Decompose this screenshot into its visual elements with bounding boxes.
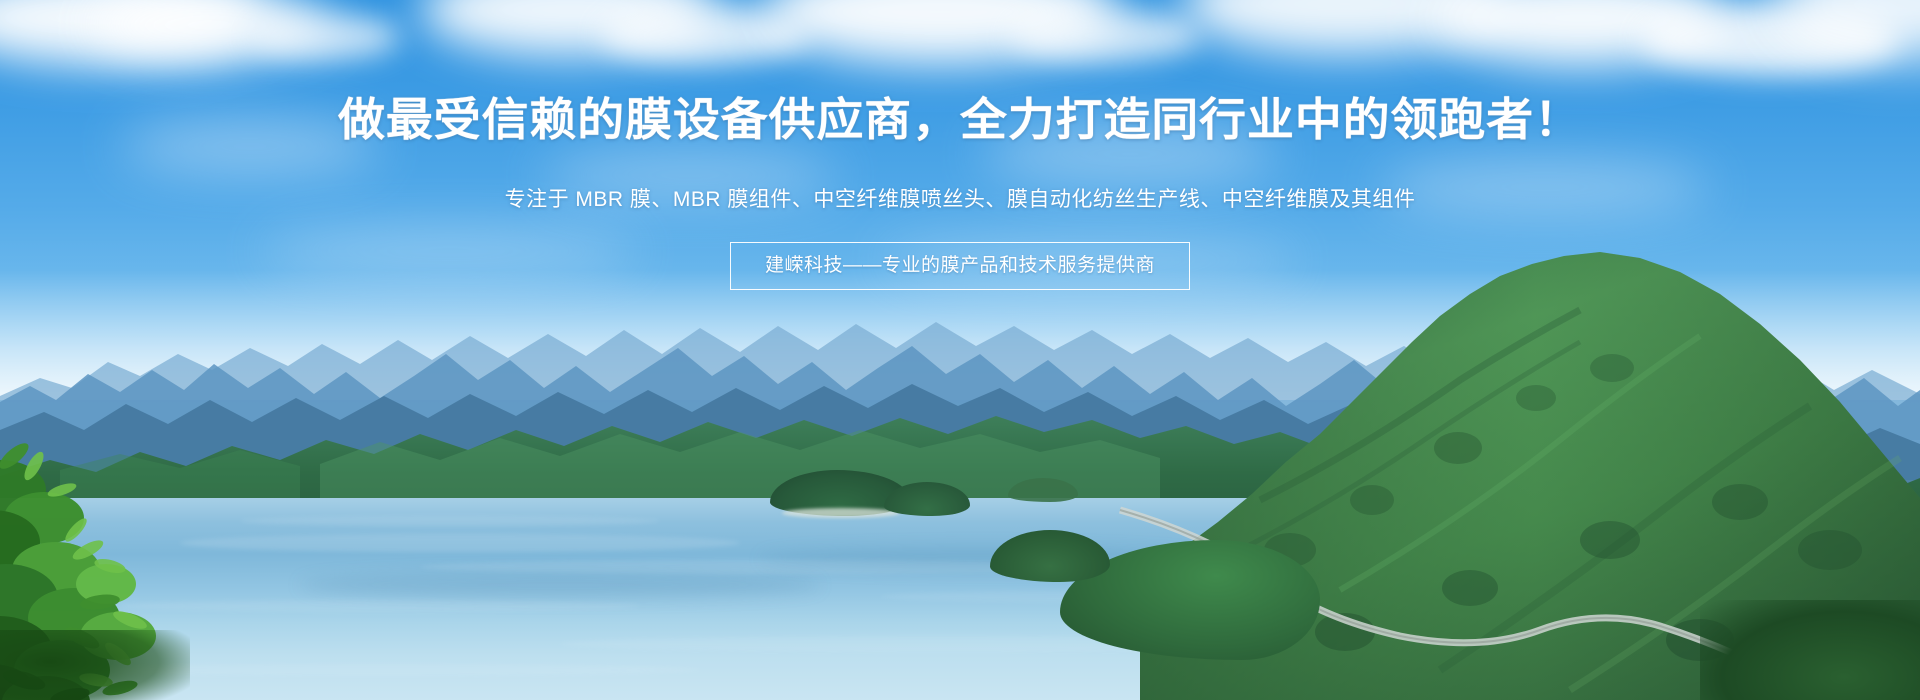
water-dark-patch: [300, 572, 820, 598]
cloud: [1380, 160, 1710, 214]
hero-banner: 做最受信赖的膜设备供应商，全力打造同行业中的领跑者！ 专注于 MBR 膜、MBR…: [0, 0, 1920, 700]
water-reflection: [240, 516, 660, 526]
lake-island-center-shore: [782, 508, 900, 518]
cloud: [980, 126, 1280, 182]
cloud: [1010, 10, 1200, 62]
tagline-box[interactable]: 建嵘科技——专业的膜产品和技术服务提供商: [730, 242, 1190, 290]
cloud: [260, 228, 640, 274]
cloud: [540, 150, 840, 200]
cloud: [120, 120, 380, 172]
foliage-right-bottom: [1700, 600, 1920, 700]
foliage-shadow: [0, 630, 190, 700]
tagline-text: 建嵘科技——专业的膜产品和技术服务提供商: [765, 254, 1155, 278]
cloud: [250, 14, 400, 60]
